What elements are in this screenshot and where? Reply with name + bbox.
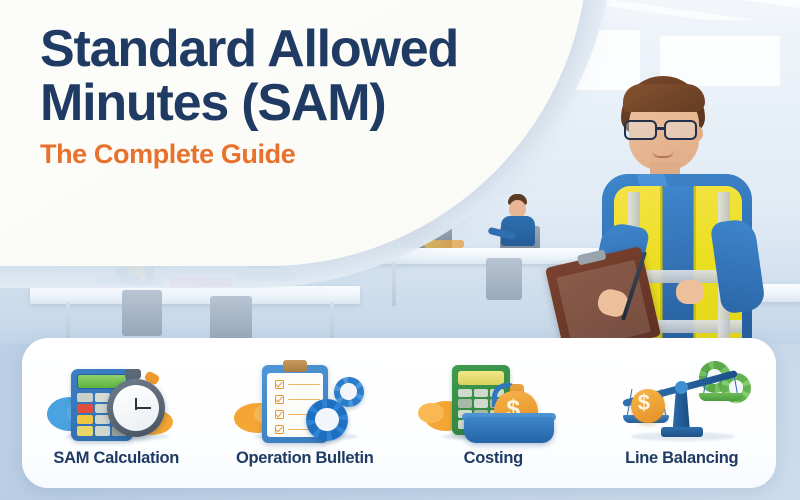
glasses-bridge bbox=[657, 127, 664, 130]
calculator-key bbox=[95, 426, 110, 435]
scale-pivot bbox=[675, 381, 688, 394]
page-title-line-2: Minutes (SAM) bbox=[40, 76, 600, 130]
checkmark-icon bbox=[275, 425, 284, 434]
checklist-line bbox=[288, 384, 320, 386]
stopwatch-hand-hour bbox=[136, 407, 151, 409]
stopwatch-face bbox=[113, 385, 159, 431]
feature-card: SAM Calculation bbox=[22, 338, 776, 488]
balance-scale-gears-icon: $ bbox=[607, 359, 757, 445]
scale-pan-right bbox=[699, 393, 743, 401]
feature-item-operation-bulletin[interactable]: Operation Bulletin bbox=[211, 338, 400, 488]
page-subtitle: The Complete Guide bbox=[40, 139, 600, 169]
calculator-money-icon: $ bbox=[418, 359, 568, 445]
chair bbox=[210, 296, 252, 340]
clipboard-clip bbox=[577, 249, 607, 265]
checkmark-icon bbox=[275, 410, 284, 419]
calculator-key bbox=[77, 404, 92, 413]
work-table bbox=[30, 286, 360, 304]
hero-section: Standard Allowed Minutes (SAM) The Compl… bbox=[0, 0, 800, 344]
calculator-key bbox=[474, 399, 488, 408]
basket-icon bbox=[464, 417, 554, 443]
calculator-key bbox=[458, 389, 472, 398]
supervisor-illustration bbox=[566, 74, 796, 344]
table-leg bbox=[392, 262, 396, 306]
checklist-line bbox=[288, 399, 320, 401]
calculator-key bbox=[77, 415, 92, 424]
scale-base bbox=[661, 427, 703, 437]
chair bbox=[486, 258, 522, 300]
calculator-key bbox=[474, 389, 488, 398]
gear-icon bbox=[306, 399, 348, 441]
glasses-icon bbox=[624, 120, 702, 140]
checkmark-icon bbox=[275, 395, 284, 404]
supervisor-fringe bbox=[623, 84, 705, 112]
stopwatch-crown bbox=[125, 369, 141, 379]
page-title-line-1: Standard Allowed bbox=[40, 22, 600, 76]
glasses-lens-left bbox=[624, 120, 657, 140]
feature-label-sam-calculation: SAM Calculation bbox=[53, 449, 179, 468]
chair bbox=[122, 290, 162, 336]
feature-label-costing: Costing bbox=[464, 449, 523, 468]
feature-item-sam-calculation[interactable]: SAM Calculation bbox=[22, 338, 211, 488]
glasses-lens-right bbox=[664, 120, 697, 140]
calculator-key bbox=[458, 399, 472, 408]
checkmark-icon bbox=[275, 380, 284, 389]
supervisor-hand-right bbox=[676, 280, 704, 304]
feature-label-operation-bulletin: Operation Bulletin bbox=[236, 449, 374, 468]
sam-guide-banner: Standard Allowed Minutes (SAM) The Compl… bbox=[0, 0, 800, 500]
feature-item-line-balancing[interactable]: $ Line Balancing bbox=[588, 338, 777, 488]
headline-block: Standard Allowed Minutes (SAM) The Compl… bbox=[40, 22, 600, 169]
clipboard-clip bbox=[283, 360, 307, 372]
stopwatch-icon bbox=[107, 379, 165, 437]
calculator-key bbox=[77, 426, 92, 435]
clipboard-gears-icon bbox=[230, 359, 380, 445]
currency-symbol: $ bbox=[638, 392, 650, 414]
calculator-key bbox=[77, 393, 92, 402]
calculator-display bbox=[458, 371, 504, 385]
feature-label-line-balancing: Line Balancing bbox=[625, 449, 738, 468]
cloud-icon bbox=[418, 403, 444, 423]
feature-item-costing[interactable]: $ Costing bbox=[399, 338, 588, 488]
calculator-stopwatch-icon bbox=[41, 359, 191, 445]
